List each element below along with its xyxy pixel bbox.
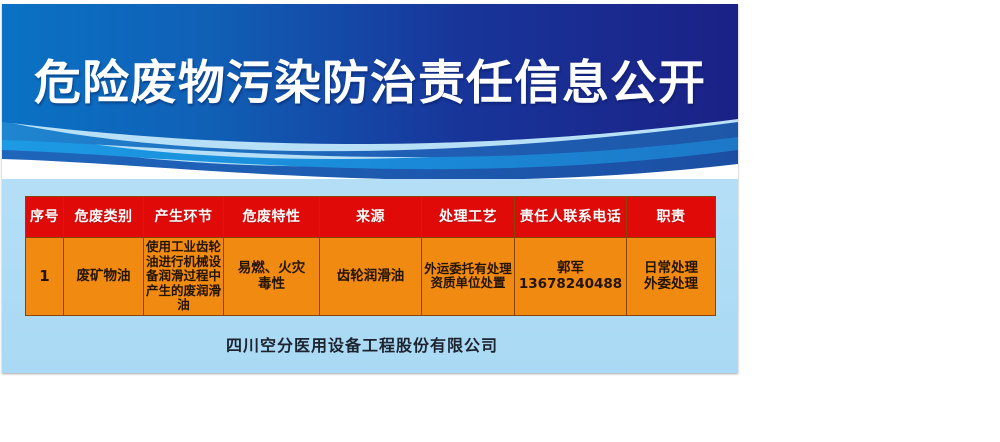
cell-source: 齿轮润滑油 [320, 238, 422, 316]
column-header-category: 危废类别 [64, 197, 144, 238]
cell-duty: 日常处理 外委处理 [627, 238, 716, 316]
cell-category: 废矿物油 [64, 238, 144, 316]
column-header-source: 来源 [320, 197, 422, 238]
contact-phone: 13678240488 [517, 276, 624, 292]
cell-hazard-property: 易燃、火灾 毒性 [224, 238, 320, 316]
column-header-property: 危废特性 [224, 197, 320, 238]
column-header-treatment: 处理工艺 [422, 197, 515, 238]
information-disclosure-poster: 危险废物污染防治责任信息公开 序号 危废类别 产生环节 危废特性 来源 处理工艺… [2, 4, 738, 373]
table-row: 1 废矿物油 使用工业齿轮油进行机械设备润滑过程中产生的废润滑油 易燃、火灾 毒… [26, 238, 716, 316]
duty-line-2: 外委处理 [629, 276, 713, 292]
duty-line-1: 日常处理 [629, 260, 713, 276]
column-header-stage: 产生环节 [144, 197, 224, 238]
page-title: 危险废物污染防治责任信息公开 [2, 56, 738, 112]
hazard-property-line-1: 易燃、火灾 [226, 260, 317, 276]
contact-name: 郭军 [517, 260, 624, 276]
cell-seq: 1 [26, 238, 64, 316]
cell-contact: 郭军 13678240488 [515, 238, 627, 316]
cell-treatment: 外运委托有处理资质单位处置 [422, 238, 515, 316]
column-header-duty: 职责 [627, 197, 716, 238]
hazardous-waste-table: 序号 危废类别 产生环节 危废特性 来源 处理工艺 责任人联系电话 职责 1 废… [25, 196, 716, 316]
table-header-row: 序号 危废类别 产生环节 危废特性 来源 处理工艺 责任人联系电话 职责 [26, 197, 716, 238]
column-header-contact: 责任人联系电话 [515, 197, 627, 238]
poster-header-banner: 危险废物污染防治责任信息公开 [2, 4, 738, 179]
hazard-property-line-2: 毒性 [226, 276, 317, 292]
company-name: 四川空分医用设备工程股份有限公司 [2, 332, 738, 356]
screenshot-root: 危险废物污染防治责任信息公开 序号 危废类别 产生环节 危废特性 来源 处理工艺… [0, 0, 1000, 442]
column-header-seq: 序号 [26, 197, 64, 238]
cell-generation-stage: 使用工业齿轮油进行机械设备润滑过程中产生的废润滑油 [144, 238, 224, 316]
